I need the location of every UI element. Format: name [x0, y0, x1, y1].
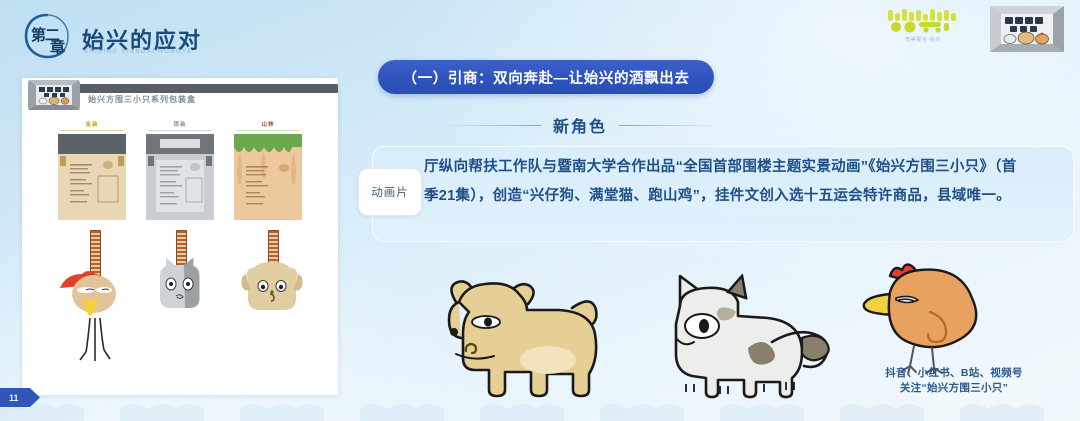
- chapter-mark-line2: 章: [50, 36, 65, 57]
- partner-logo-left-caption: 粤美联合·始兴: [880, 36, 966, 43]
- category-tag: 动画片: [358, 168, 422, 216]
- package-forest-underline: [237, 130, 299, 131]
- package-silver: 银装: [146, 120, 214, 230]
- yuemei-lianhe-logo-icon: [886, 8, 960, 34]
- character-chicken: [846, 254, 1026, 374]
- package-silver-label: 银装: [146, 120, 214, 128]
- plush-cat: [146, 230, 214, 340]
- page-subtitle: SHIXING XIANDAI NONGYE: [84, 49, 193, 55]
- subsection-header: 新角色: [440, 113, 720, 137]
- section-banner-label: （一）引商：双向奔赴—让始兴的酒飘出去: [403, 67, 690, 88]
- card-top-bar: [48, 84, 338, 93]
- package-gold: 金装: [58, 120, 126, 230]
- card-badge-logo-icon: [28, 80, 80, 110]
- package-gold-underline: [61, 130, 123, 131]
- subsection-rule-right: [619, 125, 720, 126]
- sanxiaozhi-tv-logo-icon: [990, 6, 1064, 52]
- chapter-header: 第二 章 始兴的应对 SHIXING XIANDAI NONGYE: [22, 10, 232, 62]
- section-banner[interactable]: （一）引商：双向奔赴—让始兴的酒飘出去: [378, 60, 714, 94]
- bottom-cloud-pattern: [0, 395, 1080, 421]
- subsection-title: 新角色: [553, 113, 607, 137]
- package-gold-label: 金装: [58, 120, 126, 128]
- card-title: 始兴方围三小只系列包装盒: [88, 94, 196, 105]
- social-caption-line1: 抖音、小红书、B站、视频号: [838, 366, 1070, 381]
- subsection-rule-left: [440, 125, 541, 126]
- page-number-label: 11: [0, 393, 19, 403]
- category-tag-label: 动画片: [371, 184, 409, 200]
- slide-canvas: 第二 章 始兴的应对 SHIXING XIANDAI NONGYE 粤美联合·始…: [0, 0, 1080, 421]
- character-dog: [404, 258, 624, 398]
- description-paragraph: 厅纵向帮扶工作队与暨南大学合作出品“全国首部围楼主题实景动画”《始兴方围三小只》…: [424, 153, 1024, 211]
- package-forest-image: [234, 134, 302, 220]
- social-caption-line2: 关注“始兴方围三小只”: [838, 381, 1070, 396]
- partner-logo-right: [990, 6, 1064, 52]
- plush-chicken: [50, 230, 134, 370]
- plush-dog: [236, 230, 308, 340]
- character-cat: [624, 252, 840, 404]
- package-forest-label: 山林: [234, 120, 302, 128]
- partner-logo-left: 粤美联合·始兴: [880, 8, 966, 52]
- package-silver-underline: [149, 130, 211, 131]
- package-silver-image: [146, 134, 214, 220]
- social-caption: 抖音、小红书、B站、视频号 关注“始兴方围三小只”: [838, 366, 1070, 396]
- package-forest: 山林: [234, 120, 302, 230]
- left-product-card: 始兴方围三小只系列包装盒 金装: [22, 78, 338, 395]
- package-gold-image: [58, 134, 126, 220]
